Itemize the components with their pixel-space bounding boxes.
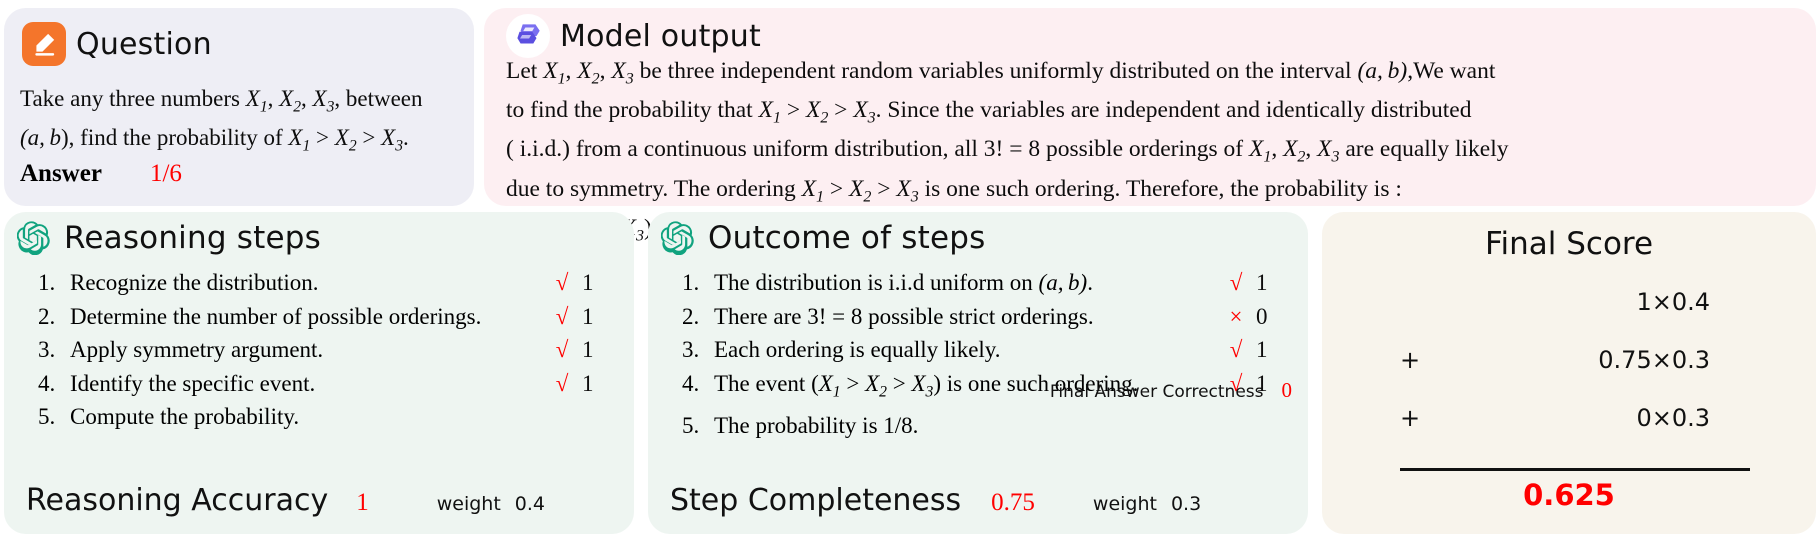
final-score-total: 0.625: [1322, 478, 1816, 512]
mo-l1b: be three independent random variables un…: [634, 58, 1358, 84]
outcome-step-row: 2. There are 3! = 8 possible strict orde…: [670, 300, 1290, 334]
step-text: The probability is 1/8.: [714, 409, 1216, 443]
math-x2: X2: [279, 86, 301, 111]
step-number: 5.: [26, 400, 70, 434]
step-score: 1: [1256, 333, 1290, 367]
math-x3: X3: [313, 86, 335, 111]
step-text: Compute the probability.: [70, 400, 542, 434]
step-text: Determine the number of possible orderin…: [70, 300, 542, 334]
question-header: Question: [4, 8, 474, 66]
math-x3: X3: [611, 58, 633, 84]
step-text-post: .: [1087, 270, 1093, 295]
mo-l2b: . Since the variables are independent an…: [876, 97, 1472, 123]
reasoning-step-row: 4. Identify the specific event. √ 1: [26, 367, 616, 401]
reasoning-steps-card: Reasoning steps 1. Recognize the distrib…: [4, 212, 634, 534]
math-interval: (a, b): [1357, 58, 1407, 84]
model-output-card: Model output Let X1, X2, X3 be three ind…: [484, 8, 1816, 206]
step-number: 1.: [670, 266, 714, 300]
outcome-weight-label: weight: [1093, 493, 1157, 515]
reasoning-step-row: 3. Apply symmetry argument. √ 1: [26, 333, 616, 367]
math-x1: X1: [246, 86, 268, 111]
math-x3: X3: [896, 176, 918, 202]
question-body-text-c: ), find the probability of: [61, 125, 288, 150]
math-x1: X1: [802, 176, 824, 202]
step-check-icon: √: [542, 266, 582, 300]
answer-value: 1/6: [150, 160, 182, 188]
step-number: 3.: [26, 333, 70, 367]
step-text-pre: The distribution is i.i.d uniform on: [714, 270, 1039, 295]
math-x1-b: X1: [288, 125, 310, 150]
final-score-row: 1×0.4: [1400, 288, 1710, 316]
step-text: Each ordering is equally likely.: [714, 333, 1216, 367]
math-interval: (a, b): [1039, 270, 1088, 295]
question-title: Question: [76, 27, 212, 62]
outcome-step-row: 3. Each ordering is equally likely. √ 1: [670, 333, 1290, 367]
step-check-icon: √: [542, 300, 582, 334]
outcome-of-steps-header: Outcome of steps: [648, 212, 1308, 258]
step-completeness-summary: Step Completeness 0.75 weight 0.3: [670, 483, 1300, 518]
final-answer-correctness-label: Final Answer Correctness: [1050, 382, 1264, 402]
question-body-text-a: Take any three numbers: [20, 86, 246, 111]
step-text: Identify the specific event.: [70, 367, 542, 401]
outcome-weight-value: 0.3: [1171, 493, 1201, 515]
step-text: Recognize the distribution.: [70, 266, 542, 300]
step-check-icon: √: [542, 333, 582, 367]
model-output-title: Model output: [560, 19, 761, 54]
step-score: 1: [582, 300, 616, 334]
final-score-divider: [1400, 468, 1750, 471]
step-text: Apply symmetry argument.: [70, 333, 542, 367]
step-check-icon: √: [1216, 266, 1256, 300]
openai-logo-icon: [14, 218, 54, 258]
step-completeness-value: 0.75: [991, 489, 1035, 517]
model-output-header: Model output: [484, 8, 1816, 58]
step-number: 4.: [670, 367, 714, 401]
reasoning-step-row: 2. Determine the number of possible orde…: [26, 300, 616, 334]
final-score-term: 0×0.3: [1460, 404, 1710, 432]
math-x2: X2: [849, 176, 871, 202]
step-score: 1: [582, 266, 616, 300]
reasoning-accuracy-summary: Reasoning Accuracy 1 weight 0.4: [26, 483, 626, 518]
step-check-icon: √: [1216, 333, 1256, 367]
reasoning-weight-value: 0.4: [515, 493, 545, 515]
mo-l1c: ,We want: [1407, 58, 1495, 84]
math-x2-b: X2: [335, 125, 357, 150]
mo-l3a: ( i.i.d.) from a continuous uniform dist…: [506, 136, 1249, 162]
mo-l4b: is one such ordering. Therefore, the pro…: [919, 176, 1402, 202]
final-score-card: Final Score 1×0.4 + 0.75×0.3 + 0×0.3 0.6…: [1322, 212, 1816, 534]
answer-label: Answer: [20, 160, 102, 188]
mo-l2a: to find the probability that: [506, 97, 759, 123]
final-score-term: 1×0.4: [1460, 288, 1710, 316]
question-body-text-b: , between: [334, 86, 422, 111]
mo-l1a: Let: [506, 58, 543, 84]
outcome-steps-list: 1. The distribution is i.i.d uniform on …: [670, 266, 1290, 442]
step-number: 1.: [26, 266, 70, 300]
math-x3: X3: [1317, 136, 1339, 162]
answer-row: Answer 1/6: [20, 160, 182, 188]
reasoning-step-row: 5. Compute the probability.: [26, 400, 616, 434]
step-text-pre: The event (: [714, 371, 819, 396]
final-score-total-value: 0.625: [1523, 478, 1615, 512]
final-score-row: + 0.75×0.3: [1400, 346, 1710, 374]
reasoning-accuracy-label: Reasoning Accuracy: [26, 483, 328, 518]
math-x3: X3: [911, 371, 933, 396]
question-card: Question Take any three numbers X1, X2, …: [4, 8, 474, 206]
step-text: There are 3! = 8 possible strict orderin…: [714, 300, 1216, 334]
step-cross-icon: ×: [1216, 300, 1256, 334]
openai-logo-icon: [658, 218, 698, 258]
mo-l4a: due to symmetry. The ordering: [506, 176, 802, 202]
outcome-step-row: 1. The distribution is i.i.d uniform on …: [670, 266, 1290, 300]
math-x3: X3: [853, 97, 875, 123]
reasoning-step-row: 1. Recognize the distribution. √ 1: [26, 266, 616, 300]
step-number: 2.: [670, 300, 714, 334]
math-x2: X2: [577, 58, 599, 84]
math-interval-open: (a, b: [20, 125, 61, 150]
step-score: 1: [582, 333, 616, 367]
math-x3-b: X3: [381, 125, 403, 150]
final-answer-correctness-value: 0: [1282, 378, 1293, 403]
outcome-step-row: 5. The probability is 1/8.: [670, 409, 1290, 443]
step-text: The distribution is i.i.d uniform on (a,…: [714, 266, 1216, 300]
step-score: 1: [1256, 266, 1290, 300]
final-score-title: Final Score: [1322, 226, 1816, 262]
step-score: 1: [582, 367, 616, 401]
math-x1: X1: [1249, 136, 1271, 162]
step-number: 5.: [670, 409, 714, 443]
reasoning-steps-header: Reasoning steps: [4, 212, 634, 258]
math-x2: X2: [806, 97, 828, 123]
outcome-of-steps-title: Outcome of steps: [708, 220, 985, 256]
step-number: 2.: [26, 300, 70, 334]
final-answer-correctness-row: Final Answer Correctness 0: [1050, 378, 1292, 403]
reasoning-steps-title: Reasoning steps: [64, 220, 321, 256]
math-x2: X2: [865, 371, 887, 396]
final-score-operator: +: [1400, 404, 1460, 432]
q-comma-1: ,: [268, 86, 280, 111]
outcome-of-steps-card: Outcome of steps 1. The distribution is …: [648, 212, 1308, 534]
qwen-logo-icon: [506, 14, 550, 58]
final-score-row: + 0×0.3: [1400, 404, 1710, 432]
step-number: 4.: [26, 367, 70, 401]
reasoning-accuracy-value: 1: [356, 489, 369, 517]
reasoning-weight-label: weight: [437, 493, 501, 515]
reasoning-steps-list: 1. Recognize the distribution. √ 1 2. De…: [26, 266, 616, 434]
math-x1: X1: [819, 371, 841, 396]
question-body: Take any three numbers X1, X2, X3, betwe…: [20, 84, 464, 161]
math-x2: X2: [1283, 136, 1305, 162]
final-score-term: 0.75×0.3: [1460, 346, 1710, 374]
step-number: 3.: [670, 333, 714, 367]
math-x1: X1: [543, 58, 565, 84]
pencil-edit-icon: [22, 22, 66, 66]
q-comma-2: ,: [301, 86, 313, 111]
step-score: 0: [1256, 300, 1290, 334]
step-completeness-label: Step Completeness: [670, 483, 961, 518]
mo-l3b: are equally likely: [1340, 136, 1509, 162]
step-check-icon: √: [542, 367, 582, 401]
final-score-operator: +: [1400, 346, 1460, 374]
math-x1: X1: [759, 97, 781, 123]
